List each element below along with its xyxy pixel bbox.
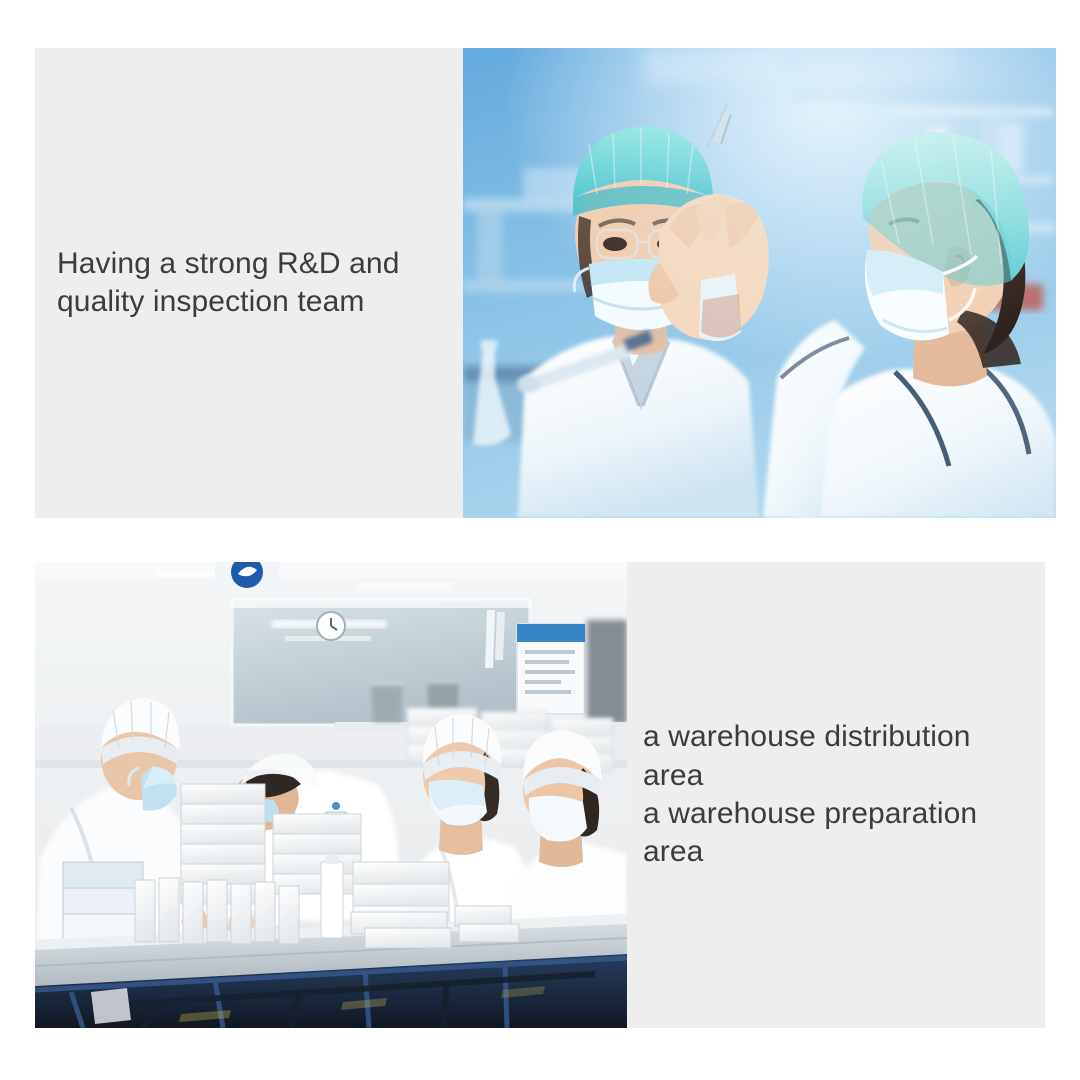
lab-photo-artwork	[463, 48, 1056, 518]
caption-panel-rnd: Having a strong R&D and quality inspecti…	[35, 48, 463, 518]
page-root: Having a strong R&D and quality inspecti…	[0, 0, 1080, 1080]
caption-panel-warehouse: a warehouse distribution area a warehous…	[627, 562, 1045, 1028]
caption-text-warehouse: a warehouse distribution area a warehous…	[627, 718, 1045, 872]
section-rnd-quality: Having a strong R&D and quality inspecti…	[35, 48, 1056, 518]
warehouse-photo-artwork	[35, 562, 627, 1028]
caption-text-rnd: Having a strong R&D and quality inspecti…	[35, 245, 409, 322]
section-warehouse: a warehouse distribution area a warehous…	[35, 562, 1045, 1028]
lab-quality-inspection-photo	[463, 48, 1056, 518]
warehouse-packing-photo	[35, 562, 627, 1028]
